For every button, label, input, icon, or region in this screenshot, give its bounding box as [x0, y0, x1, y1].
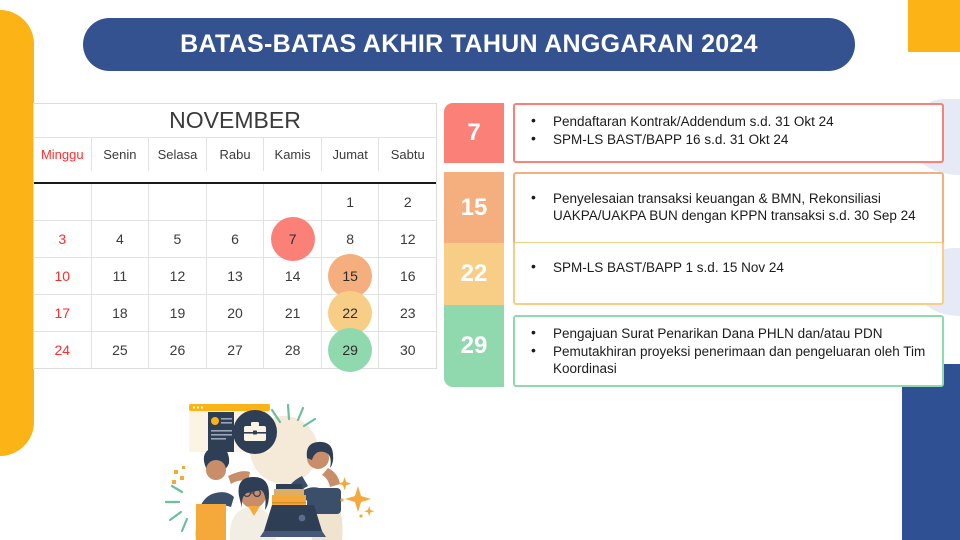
calendar-day-cell[interactable]: 27: [207, 332, 265, 368]
deadline-detail-box: Pendaftaran Kontrak/Addendum s.d. 31 Okt…: [513, 103, 944, 163]
calendar-day-cell[interactable]: 12: [379, 221, 436, 257]
deadline-detail-box: SPM-LS BAST/BAPP 1 s.d. 15 Nov 24: [513, 243, 944, 305]
calendar-highlight-marker[interactable]: 29: [328, 328, 372, 372]
calendar-day-cell[interactable]: 7: [264, 221, 322, 257]
deadline-item: SPM-LS BAST/BAPP 1 s.d. 15 Nov 24: [527, 259, 928, 276]
deadline-item-list: Pengajuan Surat Penarikan Dana PHLN dan/…: [527, 325, 928, 377]
slide-root: BATAS-BATAS AKHIR TAHUN ANGGARAN 2024 NO…: [0, 0, 960, 540]
calendar-week-row: 10111213141516: [34, 258, 436, 295]
calendar: NOVEMBER Minggu Senin Selasa Rabu Kamis …: [33, 103, 437, 369]
deadline-item: Pengajuan Surat Penarikan Dana PHLN dan/…: [527, 325, 928, 342]
deadline-spacer: [444, 163, 944, 172]
calendar-day-cell[interactable]: [149, 184, 207, 220]
calendar-day-cell[interactable]: 28: [264, 332, 322, 368]
calendar-day-cell[interactable]: 12: [149, 258, 207, 294]
calendar-day-cell[interactable]: [92, 184, 150, 220]
calendar-day-cell[interactable]: 16: [379, 258, 436, 294]
calendar-day-cell[interactable]: 11: [92, 258, 150, 294]
deadline-item: Pendaftaran Kontrak/Addendum s.d. 31 Okt…: [527, 113, 928, 130]
calendar-week-row: 17181920212223: [34, 295, 436, 332]
calendar-day-cell[interactable]: 4: [92, 221, 150, 257]
calendar-day-name-row: Minggu Senin Selasa Rabu Kamis Jumat Sab…: [34, 138, 436, 171]
calendar-day-name-rabu: Rabu: [207, 138, 265, 171]
calendar-day-cell[interactable]: 18: [92, 295, 150, 331]
deadline-date-tab[interactable]: 7: [444, 103, 504, 163]
slide-title-banner: BATAS-BATAS AKHIR TAHUN ANGGARAN 2024: [83, 18, 855, 71]
deadline-detail-box: Penyelesaian transaksi keuangan & BMN, R…: [513, 172, 944, 243]
calendar-day-cell[interactable]: 24: [34, 332, 92, 368]
calendar-grid: 1234567812101112131415161718192021222324…: [34, 184, 436, 368]
calendar-week-row: 24252627282930: [34, 332, 436, 368]
calendar-day-cell[interactable]: 2: [379, 184, 436, 220]
deadline-date-tab[interactable]: 15: [444, 172, 504, 243]
calendar-day-cell[interactable]: 30: [379, 332, 436, 368]
team-collaboration-illustration: [152, 392, 382, 540]
calendar-highlight-marker[interactable]: 7: [271, 217, 315, 261]
deadline-item: SPM-LS BAST/BAPP 16 s.d. 31 Okt 24: [527, 131, 928, 148]
deadline-item-list: SPM-LS BAST/BAPP 1 s.d. 15 Nov 24: [527, 259, 928, 276]
calendar-day-cell[interactable]: 1: [322, 184, 380, 220]
deadline-row: 22 SPM-LS BAST/BAPP 1 s.d. 15 Nov 24: [444, 243, 944, 305]
decorative-top-right-square: [908, 0, 960, 52]
calendar-day-cell[interactable]: 29: [322, 332, 380, 368]
decorative-left-bar: [0, 10, 34, 456]
calendar-day-cell[interactable]: 19: [149, 295, 207, 331]
calendar-day-cell[interactable]: [207, 184, 265, 220]
calendar-day-cell[interactable]: 14: [264, 258, 322, 294]
deadline-date-tab[interactable]: 22: [444, 243, 504, 305]
calendar-day-cell[interactable]: 20: [207, 295, 265, 331]
calendar-day-cell[interactable]: 6: [207, 221, 265, 257]
calendar-header-divider: [34, 171, 436, 184]
deadline-item-list: Penyelesaian transaksi keuangan & BMN, R…: [527, 190, 928, 224]
deadline-item-list: Pendaftaran Kontrak/Addendum s.d. 31 Okt…: [527, 113, 928, 148]
deadline-row: 29Pengajuan Surat Penarikan Dana PHLN da…: [444, 305, 944, 387]
calendar-day-cell[interactable]: 10: [34, 258, 92, 294]
calendar-day-name-kamis: Kamis: [264, 138, 322, 171]
calendar-month-label: NOVEMBER: [34, 104, 436, 138]
deadline-date-tab[interactable]: 29: [444, 305, 504, 387]
calendar-day-name-senin: Senin: [92, 138, 150, 171]
decorative-bottom-right-rectangle: [902, 364, 960, 540]
deadline-item: Pemutakhiran proyeksi penerimaan dan pen…: [527, 343, 928, 377]
calendar-week-row: 12: [34, 184, 436, 221]
calendar-day-cell[interactable]: 15: [322, 258, 380, 294]
deadline-row: 7Pendaftaran Kontrak/Addendum s.d. 31 Ok…: [444, 103, 944, 163]
calendar-day-cell[interactable]: 21: [264, 295, 322, 331]
calendar-day-cell[interactable]: 17: [34, 295, 92, 331]
deadline-item: Penyelesaian transaksi keuangan & BMN, R…: [527, 190, 928, 224]
calendar-day-cell[interactable]: 13: [207, 258, 265, 294]
calendar-day-cell[interactable]: 3: [34, 221, 92, 257]
calendar-day-cell[interactable]: [34, 184, 92, 220]
deadline-detail-box: Pengajuan Surat Penarikan Dana PHLN dan/…: [513, 315, 944, 387]
calendar-week-row: 34567812: [34, 221, 436, 258]
deadline-list: 7Pendaftaran Kontrak/Addendum s.d. 31 Ok…: [444, 103, 944, 387]
calendar-day-cell[interactable]: 26: [149, 332, 207, 368]
calendar-day-cell[interactable]: 8: [322, 221, 380, 257]
calendar-day-name-jumat: Jumat: [322, 138, 380, 171]
calendar-day-cell[interactable]: 22: [322, 295, 380, 331]
calendar-day-cell[interactable]: 25: [92, 332, 150, 368]
calendar-day-name-sabtu: Sabtu: [379, 138, 436, 171]
calendar-day-name-selasa: Selasa: [149, 138, 207, 171]
slide-title: BATAS-BATAS AKHIR TAHUN ANGGARAN 2024: [180, 30, 758, 59]
calendar-day-cell[interactable]: [264, 184, 322, 220]
deadline-row: 15Penyelesaian transaksi keuangan & BMN,…: [444, 172, 944, 243]
calendar-day-cell[interactable]: 23: [379, 295, 436, 331]
calendar-day-name-minggu: Minggu: [34, 138, 92, 171]
calendar-day-cell[interactable]: 5: [149, 221, 207, 257]
